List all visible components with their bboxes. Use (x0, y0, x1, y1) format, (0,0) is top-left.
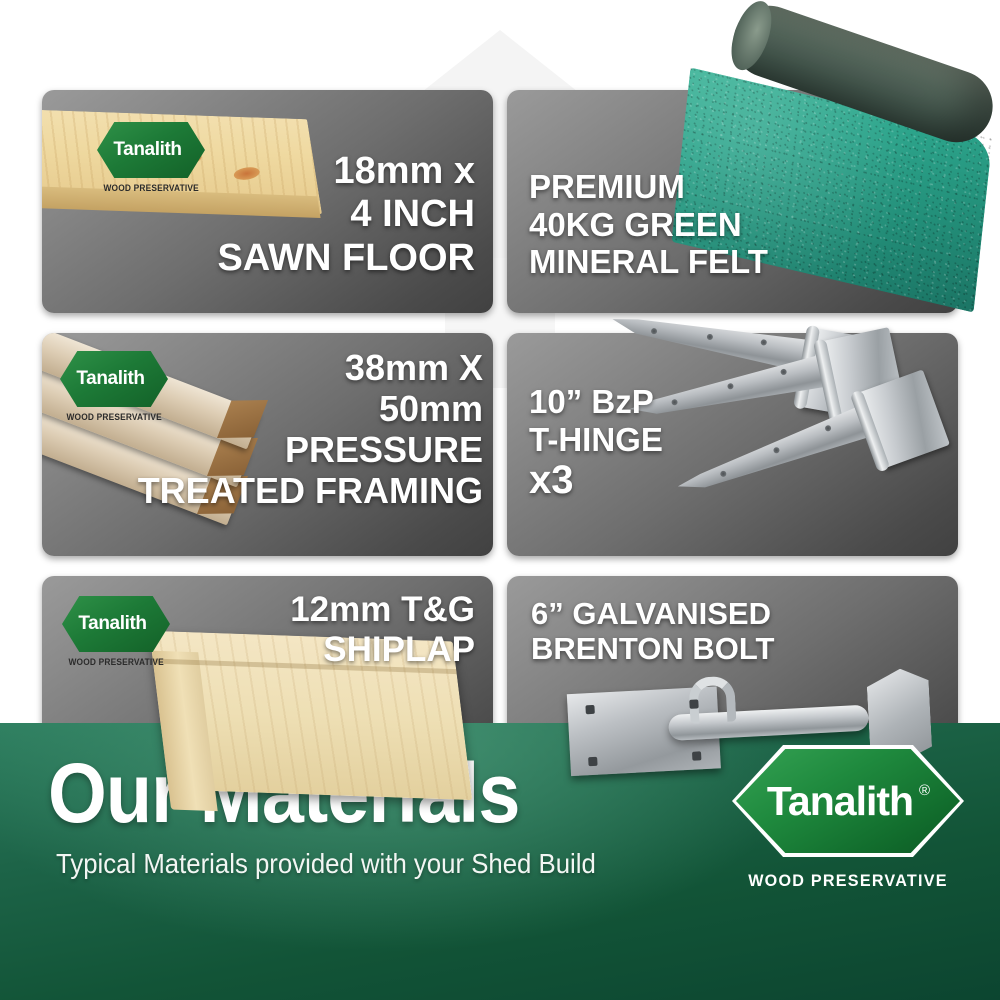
card-line: 40KG GREEN (529, 206, 768, 244)
card-line: SHIPLAP (290, 630, 475, 670)
tanalith-badge-name: Tanalith (113, 139, 188, 161)
card-text-tg-shiplap: 12mm T&G SHIPLAP (290, 590, 475, 670)
tanalith-logo-name: Tanalith® (767, 778, 929, 825)
tanalith-hexagon-icon: Tanalith® (732, 745, 964, 857)
material-card-sawn-floor[interactable]: Tanalith WOOD PRESERVATIVE 18mm x 4 INCH… (42, 90, 493, 313)
tanalith-logo-subtitle: WOOD PRESERVATIVE (738, 871, 958, 891)
card-line: PREMIUM (529, 168, 768, 206)
tanalith-hexagon-icon: Tanalith (97, 122, 205, 178)
tanalith-hexagon-icon: Tanalith (62, 596, 170, 652)
card-line: TREATED FRAMING (138, 470, 483, 511)
material-card-mineral-felt[interactable]: PREMIUM 40KG GREEN MINERAL FELT (507, 90, 958, 313)
card-line: MINERAL FELT (529, 243, 768, 281)
bolt-screw-hole (692, 751, 701, 760)
card-line: 18mm x (217, 150, 475, 193)
card-line: PRESSURE (138, 429, 483, 470)
material-card-t-hinge[interactable]: 10” BzP T-HINGE x3 (507, 333, 958, 556)
card-line: 50mm (138, 388, 483, 429)
page-subtitle: Typical Materials provided with your She… (56, 848, 596, 880)
tanalith-badge-subtitle: WOOD PRESERVATIVE (103, 183, 198, 194)
tanalith-badge: Tanalith WOOD PRESERVATIVE (97, 122, 205, 194)
tanalith-badge-subtitle: WOOD PRESERVATIVE (68, 657, 163, 668)
card-text-mineral-felt: PREMIUM 40KG GREEN MINERAL FELT (529, 168, 768, 281)
galvanised-t-hinges-image (615, 295, 995, 595)
card-text-sawn-floor: 18mm x 4 INCH SAWN FLOOR (217, 150, 475, 280)
tanalith-logo-wordmark: Tanalith (767, 778, 913, 824)
registered-mark: ® (919, 782, 929, 799)
card-text-pressure-treated-framing: 38mm X 50mm PRESSURE TREATED FRAMING (138, 347, 483, 511)
bolt-screw-hole (689, 699, 698, 708)
card-text-t-hinge: 10” BzP T-HINGE x3 (529, 383, 663, 504)
card-line: 4 INCH (217, 193, 475, 236)
card-text-brenton-bolt: 6” GALVANISED BRENTON BOLT (531, 596, 774, 667)
tanalith-logo: Tanalith® WOOD PRESERVATIVE (732, 745, 964, 891)
card-line: 10” BzP (529, 383, 663, 421)
bolt-screw-hole (585, 705, 594, 714)
card-line: 6” GALVANISED (531, 596, 774, 631)
card-line: T-HINGE (529, 421, 663, 459)
card-line: 38mm X (138, 347, 483, 388)
card-line: 12mm T&G (290, 590, 475, 630)
card-line: x3 (529, 458, 663, 504)
material-card-pressure-treated-framing[interactable]: Tanalith WOOD PRESERVATIVE 38mm X 50mm P… (42, 333, 493, 556)
bolt-screw-hole (588, 757, 597, 766)
card-line: SAWN FLOOR (217, 237, 475, 280)
tanalith-badge-name: Tanalith (78, 613, 153, 635)
tanalith-badge: Tanalith WOOD PRESERVATIVE (62, 596, 170, 668)
card-line: BRENTON BOLT (531, 631, 774, 666)
materials-grid: Tanalith WOOD PRESERVATIVE 18mm x 4 INCH… (42, 90, 958, 720)
